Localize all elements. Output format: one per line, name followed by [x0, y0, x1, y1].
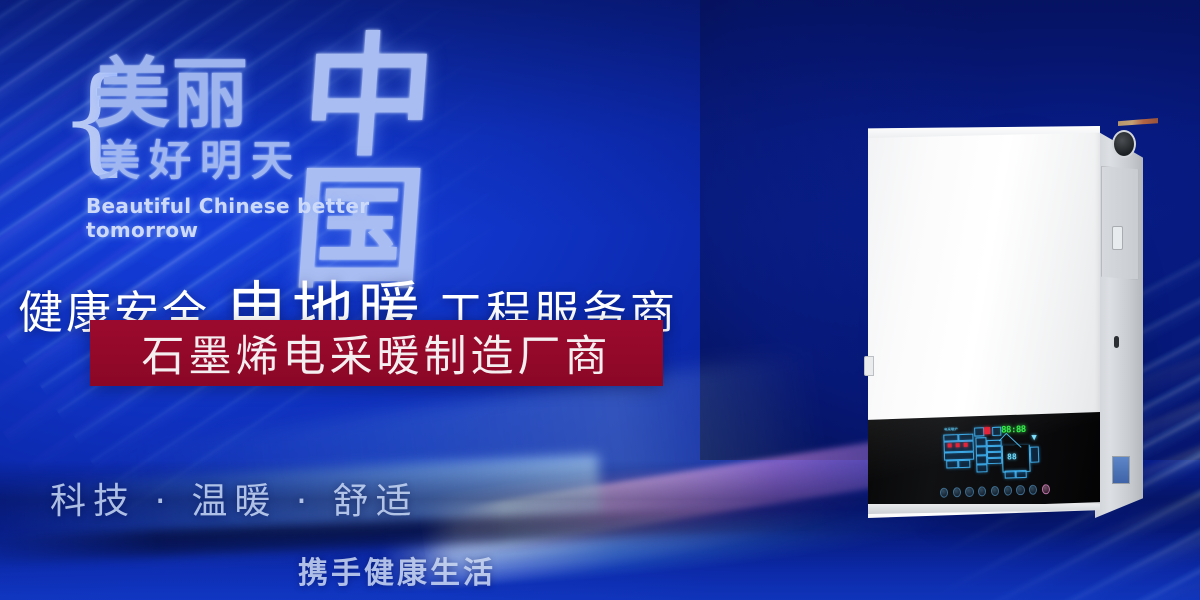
- panel-button-down[interactable]: [978, 486, 987, 496]
- panel-button-lock[interactable]: [1029, 485, 1038, 495]
- lcd-seg-k: [976, 464, 987, 472]
- lcd-signal-icon: ▼: [1031, 434, 1037, 442]
- logo-english-tagline: Beautiful Chinese better tomorrow: [86, 194, 478, 242]
- product-side-port: [1114, 336, 1119, 348]
- brand-logo: { 美丽 中国 美好明天 Beautiful Chinese better to…: [58, 48, 478, 218]
- lcd-indicator-red-3: [964, 443, 968, 447]
- product-side-latch: [1112, 226, 1123, 250]
- panel-button-mode[interactable]: [953, 487, 962, 497]
- panel-button-reset[interactable]: [1042, 484, 1051, 494]
- lcd-seg-g: [992, 427, 1001, 436]
- panel-button-up[interactable]: [965, 487, 974, 497]
- product-left-fitting: [864, 356, 874, 376]
- red-banner: 石墨烯电采暖制造厂商: [90, 320, 663, 386]
- logo-sub-text: 美好明天: [98, 140, 302, 182]
- product-side-vent: [1112, 456, 1130, 484]
- background-bottom-glow: [0, 530, 1200, 600]
- lcd-label-boiler: 电采暖炉: [944, 428, 958, 432]
- lcd-seg-o: [987, 458, 1002, 464]
- red-banner-text: 石墨烯电采暖制造厂商: [142, 322, 612, 384]
- lcd-seg-bar: [1030, 446, 1040, 462]
- lcd-seg-mode: [974, 427, 984, 436]
- product-lcd-display: 电采暖炉 88:88 ▼ 88: [943, 424, 1041, 485]
- product-electric-boiler: 电采暖炉 88:88 ▼ 88: [860, 104, 1180, 534]
- lcd-indicator-red-1: [948, 443, 952, 447]
- lcd-seg-q: [1016, 470, 1027, 478]
- lcd-indicator-alarm: [984, 427, 990, 434]
- lcd-indicator-red-2: [956, 443, 960, 447]
- logo-primary-text: 美丽: [94, 56, 250, 132]
- promo-banner: { 美丽 中国 美好明天 Beautiful Chinese better to…: [0, 0, 1200, 600]
- lcd-seg-j: [976, 455, 987, 464]
- tagline-secondary: 携手健康生活: [298, 548, 496, 592]
- product-pressure-gauge-icon: [1112, 130, 1136, 158]
- panel-button-set[interactable]: [991, 486, 1000, 496]
- product-side-access-plate: [1101, 166, 1139, 280]
- lcd-seg-p: [1005, 470, 1016, 478]
- panel-button-timer[interactable]: [1003, 485, 1012, 495]
- lcd-room-temperature: 88: [1007, 452, 1017, 461]
- tagline-primary: 科技 · 温暖 · 舒适: [50, 472, 419, 524]
- lcd-seg-e: [946, 460, 958, 468]
- lcd-seg-f: [958, 460, 970, 468]
- lcd-seg-h: [975, 437, 986, 446]
- lcd-seg-i: [976, 446, 987, 455]
- panel-button-power[interactable]: [940, 488, 949, 498]
- panel-button-pump[interactable]: [1016, 485, 1025, 495]
